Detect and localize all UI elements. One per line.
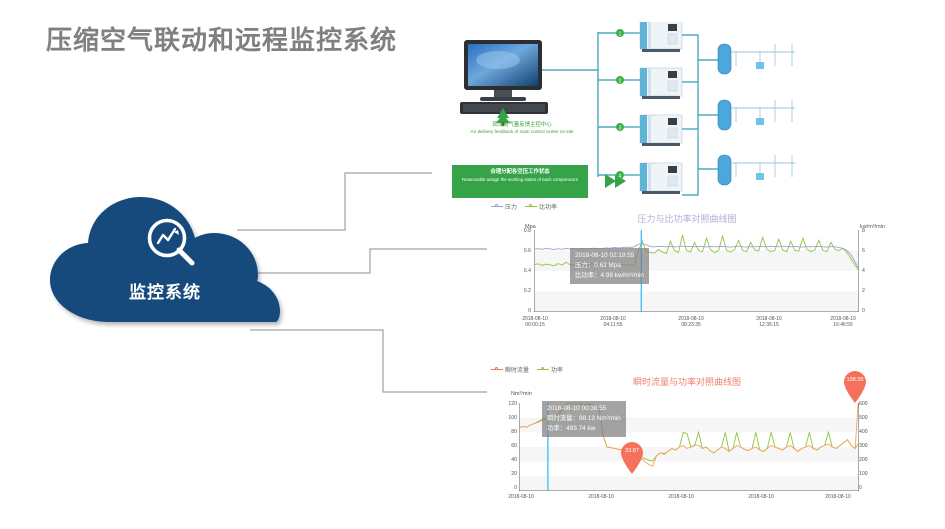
chart2-y2tick: 200 xyxy=(859,457,879,463)
pin-icon xyxy=(619,441,645,475)
chart2-ytick: 40 xyxy=(493,457,517,463)
feedback-label-en: Air delivery feedback of main control ce… xyxy=(471,129,574,134)
chart2-title: 瞬时流量与功率对照曲线图 xyxy=(487,375,887,388)
chart2-legend[interactable]: 瞬时流量 功率 xyxy=(491,365,563,374)
chart1-legend[interactable]: 压力 比功率 xyxy=(491,202,557,211)
chart2-y2tick: 300 xyxy=(859,443,879,449)
compressor-unit xyxy=(640,68,682,99)
chart1-tooltip: 2018-08-10 02:19:55 压力：0.63 Mpa 比功率：4.99… xyxy=(570,248,649,284)
chart2-y2tick: 400 xyxy=(859,429,879,435)
chart2-tooltip-power: 功率：493.74 kw xyxy=(547,424,621,434)
chart1-tooltip-specific-power: 比功率：4.99 kw/m³/min xyxy=(575,271,644,281)
chart1-xtick: 2018-08-10 00:00:15 xyxy=(509,316,561,329)
legend-label-flow: 瞬时流量 xyxy=(505,365,529,374)
chart1-tooltip-time: 2018-08-10 02:19:55 xyxy=(575,251,644,261)
pressure-power-chart[interactable]: 压力 比功率 压力与比功率对照曲线图 Mpa kw/m³/min 0.8 0.6… xyxy=(487,200,887,338)
chart2-min-marker-label: 33.87 xyxy=(619,448,645,454)
svg-text:1: 1 xyxy=(619,31,622,37)
svg-text:3: 3 xyxy=(619,125,622,131)
cloud-label: 监控系统 xyxy=(40,278,290,303)
chart1-ytick: 0.8 xyxy=(507,228,531,234)
chart2-xtick: 2018-08-10 xyxy=(812,494,864,500)
legend-label-pressure: 压力 xyxy=(505,202,517,211)
chart1-tooltip-pressure: 压力：0.63 Mpa xyxy=(575,261,644,271)
chart1-xtick-time: 12:35:15 xyxy=(743,322,795,328)
chart1-xtick: 2018-08-10 08:23:35 xyxy=(665,316,717,329)
chart1-xtick-time: 16:46:55 xyxy=(817,322,869,328)
slide-canvas: 压缩空气联动和远程监控系统 监控系统 xyxy=(0,0,945,529)
chart1-xtick: 2018-08-10 12:35:15 xyxy=(743,316,795,329)
action-box-en: Reasonable assign the working states of … xyxy=(462,177,578,182)
chart2-y2tick: 100 xyxy=(859,471,879,477)
chart2-y2tick: 500 xyxy=(859,415,879,421)
air-tank-and-pipeline xyxy=(718,155,795,185)
compressor-unit xyxy=(640,22,682,52)
chart2-xtick: 2018-08-10 xyxy=(495,494,547,500)
chart1-xtick: 2018-08-10 16:46:55 xyxy=(817,316,869,329)
legend-label-specific-power: 比功率 xyxy=(539,202,557,211)
chart1-ytick: 0.2 xyxy=(507,288,531,294)
chart2-ytick: 0 xyxy=(493,485,517,491)
chart1-y2tick: 0 xyxy=(862,308,876,314)
monitoring-cloud[interactable]: 监控系统 xyxy=(40,194,290,329)
chart1-y2tick: 8 xyxy=(862,228,876,234)
chart2-ytick: 120 xyxy=(493,401,517,407)
chart1-xtick-time: 04:11:55 xyxy=(587,322,639,328)
chart2-xtick: 2018-08-10 xyxy=(735,494,787,500)
chart1-y2tick: 4 xyxy=(862,268,876,274)
legend-marker-specific-power xyxy=(525,206,537,207)
topology-diagram: 1 2 3 4 xyxy=(430,22,935,202)
chart1-y2tick: 6 xyxy=(862,248,876,254)
svg-text:4: 4 xyxy=(619,173,622,179)
chart2-xtick: 2018-08-10 xyxy=(655,494,707,500)
svg-text:2: 2 xyxy=(619,78,622,84)
magnifier-chart-icon xyxy=(144,216,200,272)
legend-marker-pressure xyxy=(491,206,503,207)
legend-marker-power xyxy=(537,369,549,370)
legend-item-specific-power[interactable]: 比功率 xyxy=(525,202,557,211)
chart2-ytick: 100 xyxy=(493,415,517,421)
action-callout-box: 合理分配各空压工作状态 Reasonable assign the workin… xyxy=(452,165,588,198)
air-tank-and-pipeline xyxy=(718,100,795,130)
legend-marker-flow xyxy=(491,369,503,370)
compressor-unit xyxy=(640,163,682,194)
chart2-ytick: 20 xyxy=(493,471,517,477)
chart2-tooltip-time: 2018-08-10 00:38:55 xyxy=(547,404,621,414)
chart2-max-marker[interactable]: 138.55 xyxy=(842,370,868,404)
chart2-ytick: 80 xyxy=(493,429,517,435)
chart2-xtick: 2018-08-10 xyxy=(575,494,627,500)
legend-item-pressure[interactable]: 压力 xyxy=(491,202,517,211)
desktop-computer-icon xyxy=(460,40,548,114)
feedback-label: 现场用气量反馈主控中心 Air delivery feedback of mai… xyxy=(452,122,592,134)
pin-icon xyxy=(842,370,868,404)
chart1-xtick-time: 00:00:15 xyxy=(509,322,561,328)
chart1-title: 压力与比功率对照曲线图 xyxy=(487,212,887,225)
chart2-max-marker-label: 138.55 xyxy=(842,377,868,383)
air-tank-and-pipeline xyxy=(718,44,795,74)
chart2-y2tick: 0 xyxy=(859,485,879,491)
chart1-y2tick: 2 xyxy=(862,288,876,294)
legend-item-power[interactable]: 功率 xyxy=(537,365,563,374)
chart1-ytick: 0.4 xyxy=(507,268,531,274)
chart2-tooltip-flow: 瞬时流量：98.13 Nm³/min xyxy=(547,414,621,424)
feedback-label-cn: 现场用气量反馈主控中心 xyxy=(452,122,592,129)
compressor-unit xyxy=(640,115,682,146)
chart1-xtick: 2018-08-10 04:11:55 xyxy=(587,316,639,329)
chart2-y-axis-unit: Nm³/min xyxy=(511,391,532,397)
legend-label-power: 功率 xyxy=(551,365,563,374)
chart1-xtick-time: 08:23:35 xyxy=(665,322,717,328)
legend-item-flow[interactable]: 瞬时流量 xyxy=(491,365,529,374)
node-badge: 1 2 3 4 xyxy=(616,29,624,179)
chart2-ytick: 60 xyxy=(493,443,517,449)
chart1-ytick: 0 xyxy=(507,308,531,314)
chart1-ytick: 0.6 xyxy=(507,248,531,254)
chart2-min-marker[interactable]: 33.87 xyxy=(619,441,645,475)
chart2-tooltip: 2018-08-10 00:38:55 瞬时流量：98.13 Nm³/min 功… xyxy=(542,401,626,437)
action-box-cn: 合理分配各空压工作状态 xyxy=(452,169,588,176)
flow-power-chart[interactable]: 瞬时流量 功率 瞬时流量与功率对照曲线图 Nm³/min 120 100 80 … xyxy=(487,363,887,529)
